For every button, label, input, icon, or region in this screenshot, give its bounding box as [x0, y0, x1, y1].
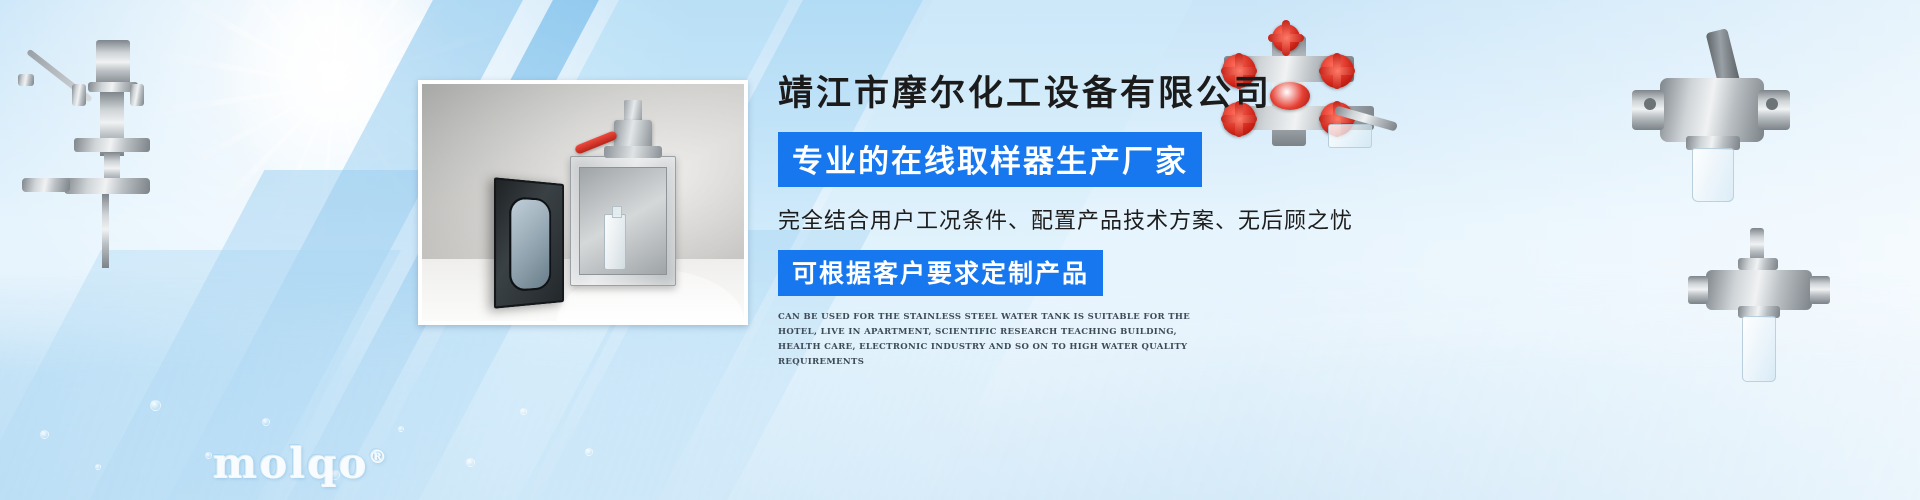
- right-equipment-illustration: [1626, 24, 1806, 214]
- registered-trademark-icon: ®: [368, 446, 388, 467]
- secondary-highlight: 可根据客户要求定制产品: [778, 250, 1103, 296]
- sampler-valve-head: [602, 100, 664, 166]
- cabinet-interior: [579, 167, 667, 275]
- door-window: [509, 196, 551, 292]
- brand-watermark: molqo®: [212, 438, 388, 487]
- english-description: CAN BE USED FOR THE STAINLESS STEEL WATE…: [778, 310, 1198, 370]
- cabinet-door: [494, 177, 564, 308]
- company-name: 靖江市摩尔化工设备有限公司: [778, 74, 1418, 114]
- sub-headline: 完全结合用户工况条件、配置产品技术方案、无后顾之忧: [778, 203, 1418, 235]
- product-photo-image: [422, 84, 744, 321]
- bottom-right-equipment-illustration: [1686, 228, 1846, 428]
- sampler-cabinet: [570, 156, 676, 286]
- headline-highlight: 专业的在线取样器生产厂家: [778, 132, 1202, 187]
- sample-bottle: [604, 214, 626, 270]
- product-photo: [418, 80, 748, 325]
- left-equipment-illustration: [8, 18, 168, 268]
- secondary-highlight-row: 可根据客户要求定制产品: [778, 250, 1418, 296]
- headline-highlight-row: 专业的在线取样器生产厂家: [778, 132, 1418, 187]
- banner-text-block: 靖江市摩尔化工设备有限公司 专业的在线取样器生产厂家 完全结合用户工况条件、配置…: [778, 74, 1418, 370]
- promo-banner: 靖江市摩尔化工设备有限公司 专业的在线取样器生产厂家 完全结合用户工况条件、配置…: [0, 0, 1920, 500]
- watermark-text: molqo: [212, 438, 368, 487]
